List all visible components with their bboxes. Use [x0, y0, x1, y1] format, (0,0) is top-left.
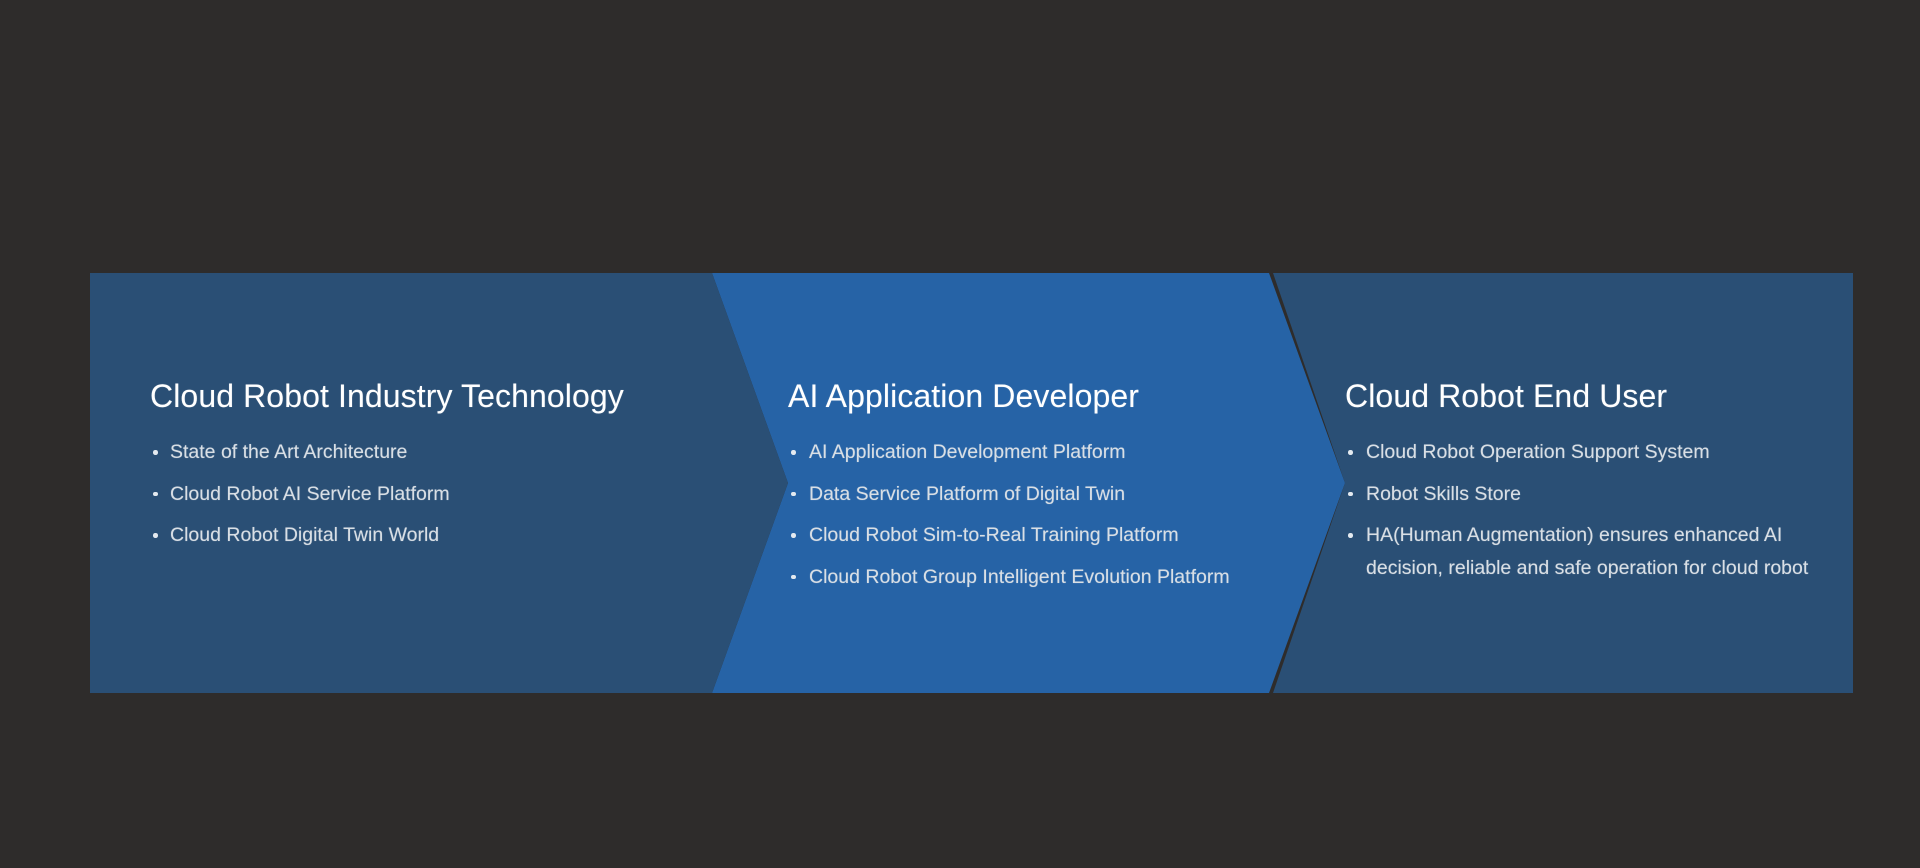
list-item-label: HA(Human Augmentation) ensures enhanced …: [1366, 524, 1808, 579]
bullet-list-end-user: Cloud Robot Operation Support System Rob…: [1345, 436, 1855, 593]
list-item: Robot Skills Store: [1345, 478, 1855, 511]
list-item: State of the Art Architecture: [150, 436, 750, 469]
list-item: Cloud Robot AI Service Platform: [150, 478, 750, 511]
list-item-label: State of the Art Architecture: [170, 441, 407, 463]
bullet-dot-icon: [791, 450, 796, 455]
list-item-label: Cloud Robot Operation Support System: [1366, 441, 1710, 463]
list-item-label: Cloud Robot Group Intelligent Evolution …: [809, 566, 1230, 588]
list-item-label: Cloud Robot Sim-to-Real Training Platfor…: [809, 524, 1179, 546]
panel-title-ai-application-developer: AI Application Developer: [788, 376, 1139, 416]
list-item-label: Cloud Robot Digital Twin World: [170, 524, 439, 546]
list-item: Cloud Robot Group Intelligent Evolution …: [788, 561, 1308, 594]
list-item-label: Data Service Platform of Digital Twin: [809, 483, 1125, 505]
bullet-list-ai-application-developer: AI Application Development Platform Data…: [788, 436, 1308, 602]
bullet-dot-icon: [153, 492, 158, 497]
list-item: Cloud Robot Operation Support System: [1345, 436, 1855, 469]
bullet-dot-icon: [791, 575, 796, 580]
bullet-dot-icon: [791, 492, 796, 497]
list-item: Data Service Platform of Digital Twin: [788, 478, 1308, 511]
bullet-dot-icon: [153, 450, 158, 455]
list-item: AI Application Development Platform: [788, 436, 1308, 469]
list-item-label: Robot Skills Store: [1366, 483, 1521, 505]
chevron-band: Cloud Robot Industry Technology State of…: [90, 273, 1853, 693]
panel-title-end-user: Cloud Robot End User: [1345, 376, 1667, 416]
list-item: HA(Human Augmentation) ensures enhanced …: [1345, 519, 1855, 584]
bullet-dot-icon: [791, 533, 796, 538]
list-item: Cloud Robot Sim-to-Real Training Platfor…: [788, 519, 1308, 552]
list-item: Cloud Robot Digital Twin World: [150, 519, 750, 552]
list-item-label: AI Application Development Platform: [809, 441, 1126, 463]
list-item-label: Cloud Robot AI Service Platform: [170, 483, 450, 505]
panel-title-industry-technology: Cloud Robot Industry Technology: [150, 376, 624, 416]
bullet-dot-icon: [1348, 450, 1353, 455]
bullet-dot-icon: [1348, 492, 1353, 497]
bullet-list-industry-technology: State of the Art Architecture Cloud Robo…: [150, 436, 750, 561]
bullet-dot-icon: [1348, 533, 1353, 538]
bullet-dot-icon: [153, 533, 158, 538]
